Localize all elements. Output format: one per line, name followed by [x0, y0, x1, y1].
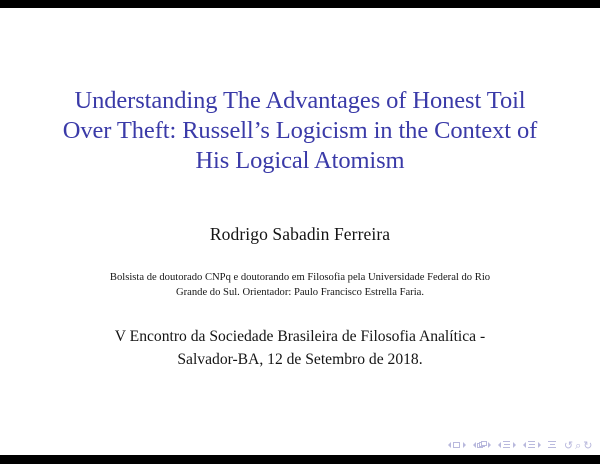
event-line-1: V Encontro da Sociedade Brasileira de Fi…: [46, 326, 554, 349]
title-line-2: Over Theft: Russell’s Logicism in the Co…: [28, 116, 572, 146]
previous-slide-icon[interactable]: [448, 442, 451, 448]
history-navigation[interactable]: ↺ ⌕ ↻: [564, 440, 593, 451]
previous-section-icon[interactable]: [523, 442, 526, 448]
slide-navigation[interactable]: [448, 441, 466, 450]
subsection-icon[interactable]: [502, 441, 511, 450]
institute-line-2: Grande do Sul. Orientador: Paulo Francis…: [30, 286, 570, 301]
title-line-3: His Logical Atomism: [28, 146, 572, 176]
institute-line-1: Bolsista de doutorado CNPq e doutorando …: [30, 271, 570, 286]
letterbox-top: [0, 0, 600, 8]
institute-text: Bolsista de doutorado CNPq e doutorando …: [30, 271, 570, 300]
search-icon[interactable]: ⌕: [575, 440, 582, 451]
frame-icon[interactable]: [477, 441, 486, 450]
presentation-title: Understanding The Advantages of Honest T…: [0, 86, 600, 176]
document-icon[interactable]: [548, 441, 557, 450]
beamer-navigation-symbols[interactable]: ↺ ⌕ ↻: [448, 437, 593, 453]
author-block: Rodrigo Sabadin Ferreira: [0, 223, 600, 245]
slide-canvas: Understanding The Advantages of Honest T…: [0, 8, 600, 455]
event-date-text: V Encontro da Sociedade Brasileira de Fi…: [46, 326, 554, 371]
author-name: Rodrigo Sabadin Ferreira: [0, 223, 600, 245]
next-subsection-icon[interactable]: [513, 442, 516, 448]
title-block: Understanding The Advantages of Honest T…: [0, 86, 600, 176]
forward-icon[interactable]: ↻: [583, 440, 593, 451]
next-frame-icon[interactable]: [488, 442, 491, 448]
subsection-navigation[interactable]: [498, 441, 516, 450]
section-icon[interactable]: [527, 441, 536, 450]
presentation-navigation[interactable]: [548, 441, 557, 450]
letterbox-bottom: [0, 455, 600, 464]
next-slide-icon[interactable]: [463, 442, 466, 448]
title-line-1: Understanding The Advantages of Honest T…: [28, 86, 572, 116]
next-section-icon[interactable]: [538, 442, 541, 448]
slide-viewport: Understanding The Advantages of Honest T…: [0, 0, 600, 464]
section-navigation[interactable]: [523, 441, 541, 450]
previous-frame-icon[interactable]: [473, 442, 476, 448]
event-line-2: Salvador-BA, 12 de Setembro de 2018.: [46, 349, 554, 372]
slide-icon[interactable]: [452, 441, 461, 450]
event-date-block: V Encontro da Sociedade Brasileira de Fi…: [0, 326, 600, 371]
institute-block: Bolsista de doutorado CNPq e doutorando …: [0, 271, 600, 300]
previous-subsection-icon[interactable]: [498, 442, 501, 448]
back-icon[interactable]: ↺: [564, 440, 574, 451]
frame-navigation[interactable]: [473, 441, 491, 450]
